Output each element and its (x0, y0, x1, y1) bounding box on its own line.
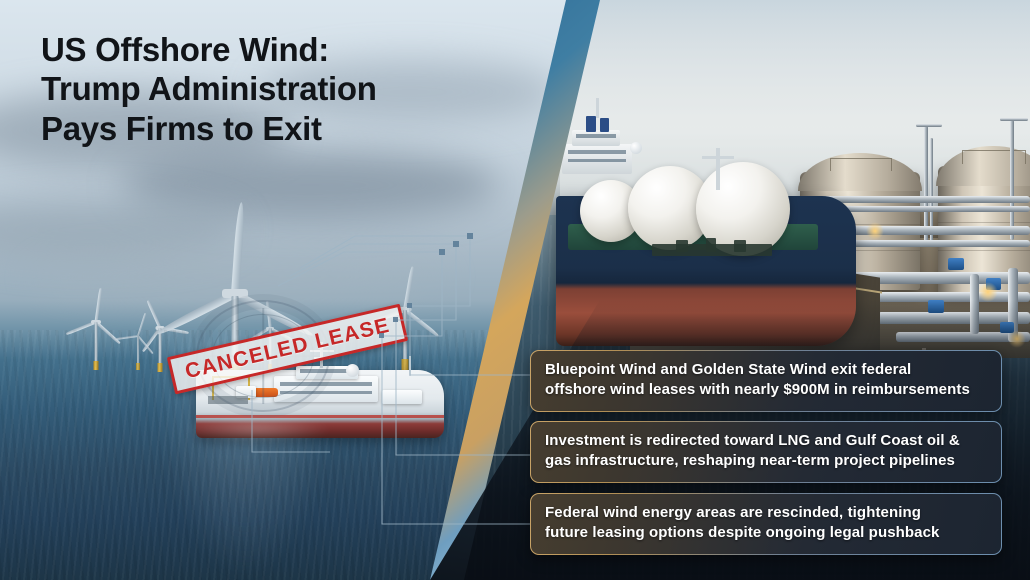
callout-1-line-2: offshore wind leases with nearly $900M i… (545, 380, 970, 400)
callout-box-2: Investment is redirected toward LNG and … (530, 421, 1002, 483)
headline-line-1: US Offshore Wind: (41, 30, 471, 69)
callout-2-line-2: gas infrastructure, reshaping near-term … (545, 451, 960, 471)
callout-3-line-1: Federal wind energy areas are rescinded,… (545, 503, 940, 523)
callout-3-text: Federal wind energy areas are rescinded,… (545, 503, 940, 543)
callout-2-text: Investment is redirected toward LNG and … (545, 431, 960, 471)
callout-3-line-2: future leasing options despite ongoing l… (545, 523, 940, 543)
callout-1-line-1: Bluepoint Wind and Golden State Wind exi… (545, 360, 970, 380)
callout-box-1: Bluepoint Wind and Golden State Wind exi… (530, 350, 1002, 412)
callout-2-line-1: Investment is redirected toward LNG and … (545, 431, 960, 451)
headline-line-2: Trump Administration (41, 69, 471, 108)
headline-line-3: Pays Firms to Exit (41, 109, 471, 148)
infographic-canvas: CANCELED LEASE (0, 0, 1030, 580)
callout-box-3: Federal wind energy areas are rescinded,… (530, 493, 1002, 555)
callout-1-text: Bluepoint Wind and Golden State Wind exi… (545, 360, 970, 400)
headline: US Offshore Wind: Trump Administration P… (41, 30, 471, 148)
